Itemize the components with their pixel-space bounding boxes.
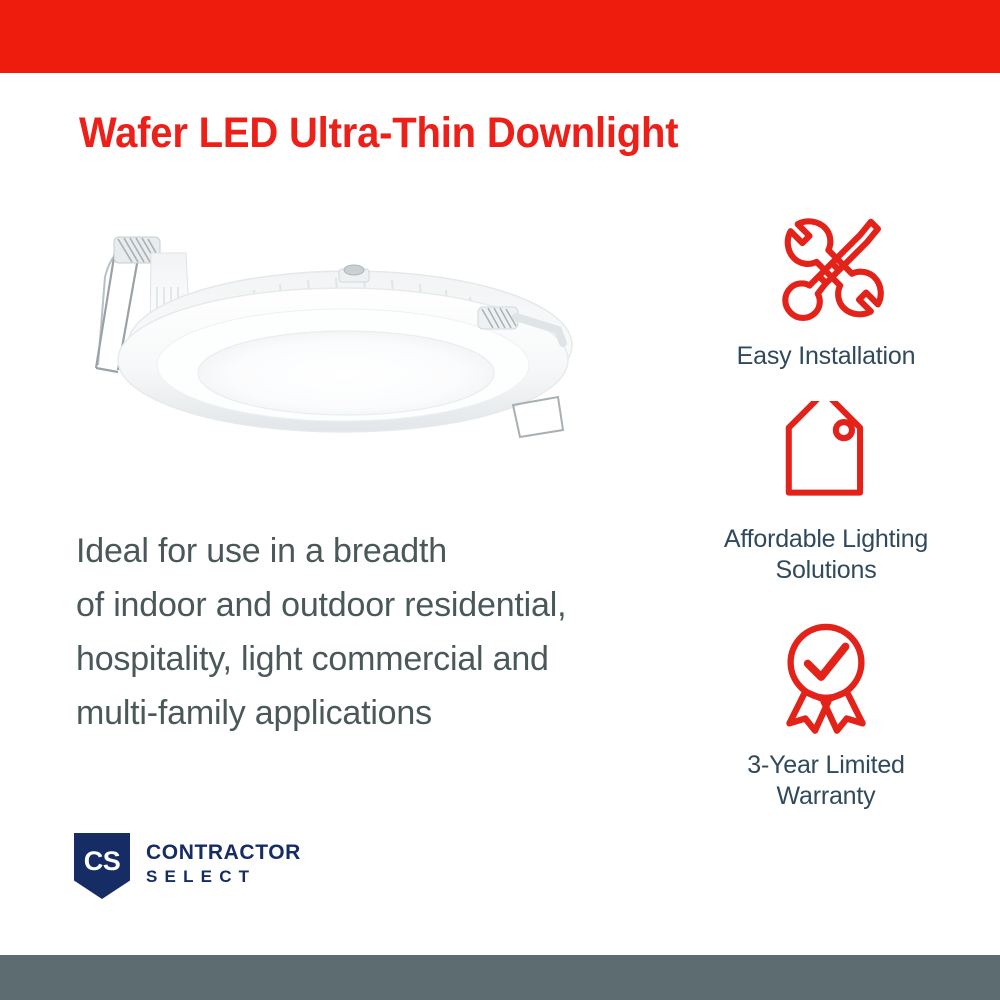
contractor-select-logo: CS CONTRACTOR SELECT [74,833,294,905]
feature-label-affordable-lighting: Affordable Lighting Solutions [660,524,992,586]
product-image [58,225,628,460]
wrench-screwdriver-icon [660,205,992,333]
logo-word-contractor: CONTRACTOR [146,841,301,864]
award-ribbon-check-icon [660,612,992,742]
red-header-bar [0,0,1000,73]
feature-easy-installation: Easy Installation [660,205,992,372]
feature-label-line: Easy Installation [737,342,916,370]
description-line-1: Ideal for use in a breadth [76,524,666,578]
feature-affordable-lighting: Affordable Lighting Solutions [660,398,992,586]
slate-footer-bar [0,955,1000,1000]
lens-inner [198,331,494,415]
feature-label-easy-installation: Easy Installation [660,341,992,372]
feature-label-line: Solutions [775,556,876,584]
logo-wordmark: CONTRACTOR SELECT [146,841,301,888]
logo-word-select: SELECT [146,866,301,888]
mounting-bracket-right [513,397,563,437]
cs-monogram: CS [74,846,130,877]
feature-label-line: Warranty [777,782,876,810]
junction-nub [339,265,369,282]
description-paragraph: Ideal for use in a breadth of indoor and… [76,524,666,740]
cs-shield-icon: CS [74,833,130,899]
description-line-2: of indoor and outdoor residential, [76,578,666,632]
description-line-4: multi-family applications [76,686,666,740]
page-title: Wafer LED Ultra-Thin Downlight [79,108,678,158]
product-marketing-page: Wafer LED Ultra-Thin Downlight [0,0,1000,1000]
feature-warranty: 3-Year Limited Warranty [660,612,992,812]
feature-label-warranty: 3-Year Limited Warranty [660,750,992,812]
price-tag-icon [660,398,992,516]
description-line-3: hospitality, light commercial and [76,632,666,686]
feature-label-line: Affordable Lighting [724,525,928,553]
feature-list: Easy Installation Affordable Lighting So… [660,205,992,838]
feature-label-line: 3-Year Limited [747,751,904,779]
